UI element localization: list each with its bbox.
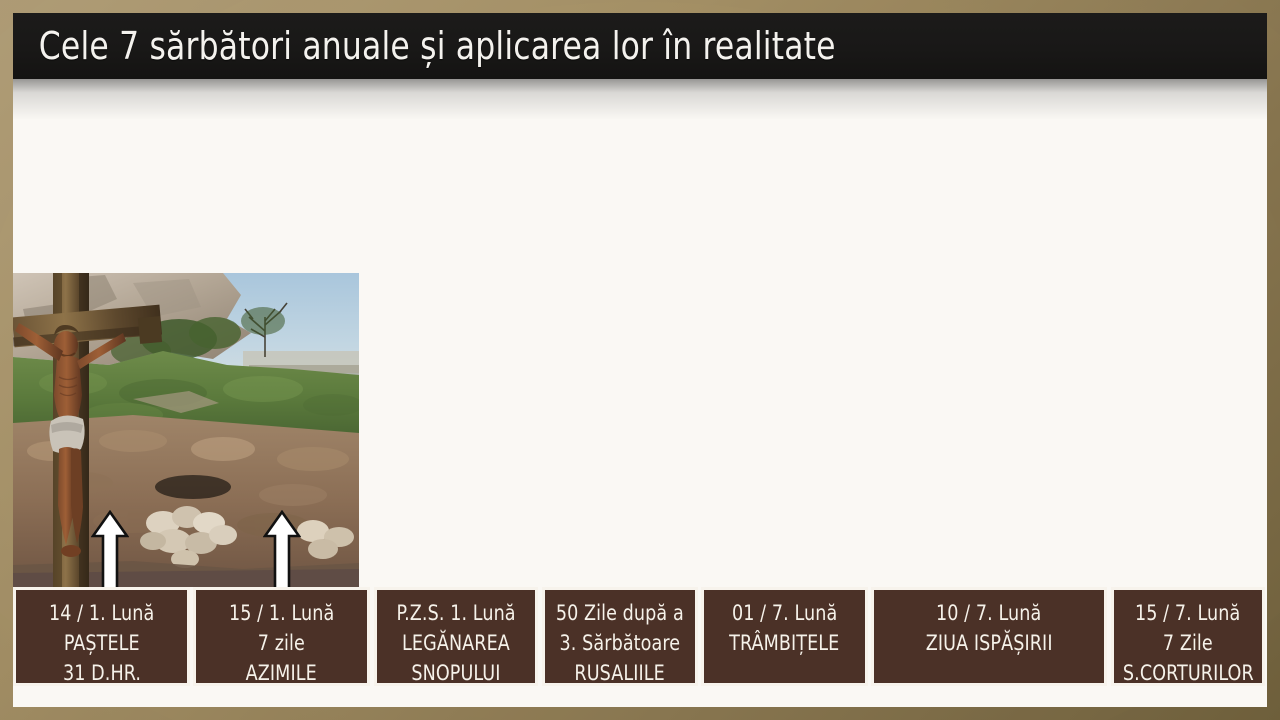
timeline-box-line: PAȘTELE — [64, 628, 140, 658]
timeline-box-s-corturilor[interactable]: 15 / 7. Lună 7 Zile S.CORTURILOR — [1111, 587, 1265, 686]
crucifixion-scene-photo — [13, 273, 359, 587]
timeline-box-azimile[interactable]: 15 / 1. Lună 7 zile AZIMILE — [193, 587, 370, 686]
timeline-box-line: ZIUA ISPĂȘIRII — [926, 628, 1053, 658]
timeline-box-line: S.CORTURILOR — [1123, 658, 1254, 688]
timeline-box-line: P.Z.S. 1. Lună — [396, 598, 515, 628]
timeline-box-line: 10 / 7. Lună — [936, 598, 1041, 628]
timeline-box-line: 7 zile — [258, 628, 305, 658]
timeline-box-line: SNOPULUI — [411, 658, 500, 688]
timeline-box-snopului[interactable]: P.Z.S. 1. Lună LEGĂNAREA SNOPULUI — [374, 587, 538, 686]
timeline-box-trambitele[interactable]: 01 / 7. Lună TRÂMBIȚELE — [701, 587, 868, 686]
timeline-box-line: RUSALIILE — [575, 658, 665, 688]
timeline-box-line: 7 Zile — [1163, 628, 1213, 658]
timeline-box-line: AZIMILE — [246, 658, 317, 688]
timeline-box-line: 31 D.HR. — [62, 658, 140, 688]
title-bar-shadow — [13, 78, 1267, 120]
timeline-box-rusaliile[interactable]: 50 Zile după a 3. Sărbătoare RUSALIILE — [542, 587, 698, 686]
timeline-box-pastele[interactable]: 14 / 1. Lună PAȘTELE 31 D.HR. — [13, 587, 190, 686]
slide-body: Cele 7 sărbători anuale și aplicarea lor… — [13, 13, 1267, 707]
timeline-box-line: 50 Zile după a — [556, 598, 684, 628]
timeline-box-line: 15 / 7. Lună — [1135, 598, 1240, 628]
slide-frame: Cele 7 sărbători anuale și aplicarea lor… — [0, 0, 1280, 720]
page-title: Cele 7 sărbători anuale și aplicarea lor… — [13, 24, 836, 68]
timeline-box-line: 15 / 1. Lună — [229, 598, 334, 628]
timeline-box-line: 01 / 7. Lună — [732, 598, 837, 628]
timeline-box-line: LEGĂNAREA — [402, 628, 510, 658]
timeline-box-line: TRÂMBIȚELE — [729, 628, 839, 658]
timeline-box-line: 3. Sărbătoare — [560, 628, 681, 658]
title-bar: Cele 7 sărbători anuale și aplicarea lor… — [13, 13, 1267, 79]
timeline-box-ziua-ispasirii[interactable]: 10 / 7. Lună ZIUA ISPĂȘIRII — [871, 587, 1107, 686]
timeline-box-line: 14 / 1. Lună — [49, 598, 154, 628]
